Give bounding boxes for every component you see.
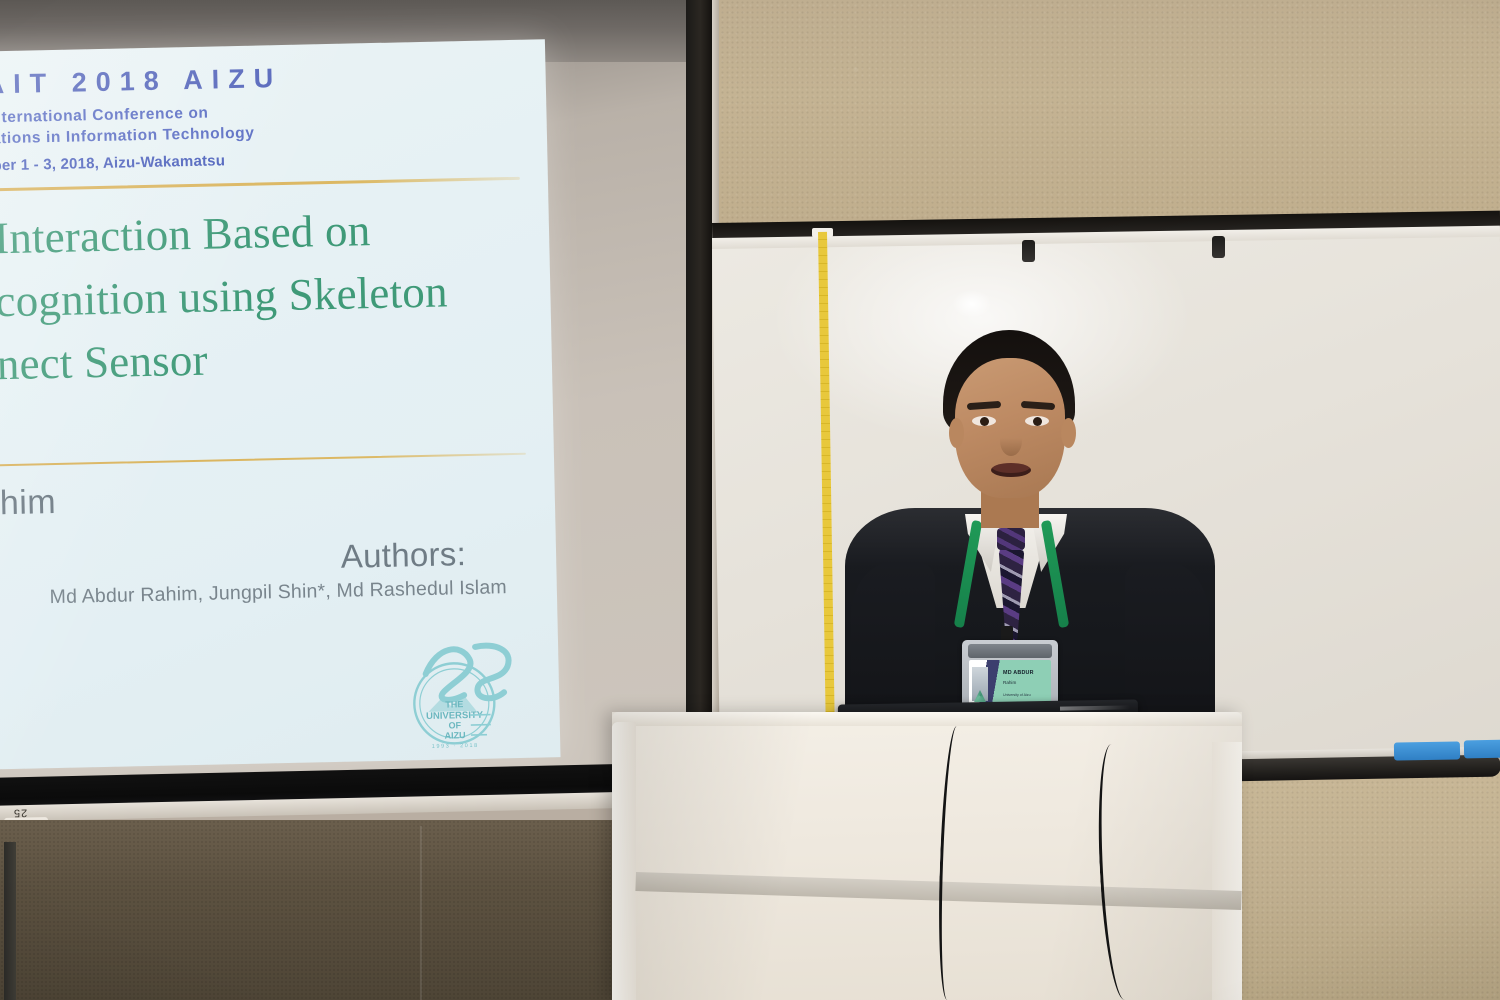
slide-paper-title-line-1: Interaction Based on bbox=[0, 195, 522, 269]
badge-holder-top bbox=[968, 644, 1052, 658]
speaker-mouth bbox=[991, 463, 1031, 477]
speaker-ear-left bbox=[949, 418, 964, 448]
corner-column bbox=[686, 0, 712, 760]
slide-authors-label: Authors: bbox=[1, 533, 529, 582]
svg-text:THE: THE bbox=[445, 699, 463, 709]
whiteboard-eraser[interactable] bbox=[1464, 740, 1500, 759]
curtain-seam bbox=[420, 826, 422, 1000]
whiteboard-eraser[interactable] bbox=[1394, 741, 1460, 760]
speaker-eye-right bbox=[1025, 416, 1049, 426]
svg-text:1993 · 2018: 1993 · 2018 bbox=[432, 743, 479, 750]
speaker-eye-left bbox=[972, 416, 996, 426]
presentation-photo: AIT 2018 AIZU nternational Conference on… bbox=[0, 0, 1500, 1000]
speaker-necktie-knot bbox=[997, 528, 1025, 550]
podium-shading bbox=[612, 712, 1242, 1000]
university-seal-icon: THE UNIVERSITY OF AIZU 1993 · 2018 bbox=[395, 628, 530, 759]
svg-text:OF: OF bbox=[448, 720, 461, 730]
slide-divider-top bbox=[0, 177, 520, 191]
badge-subname-text: Rahim bbox=[1003, 680, 1016, 685]
speaker-ear-right bbox=[1061, 418, 1076, 448]
projected-slide: AIT 2018 AIZU nternational Conference on… bbox=[0, 39, 561, 770]
screen-handle-label: 25 bbox=[13, 806, 28, 818]
whiteboard-clip[interactable] bbox=[1212, 236, 1225, 258]
whiteboard-glare bbox=[952, 290, 992, 318]
slide-presenter-name: him bbox=[0, 472, 527, 522]
badge-org-text: University of Aizu bbox=[1003, 693, 1031, 697]
slide-paper-title-line-2: cognition using Skeleton bbox=[0, 258, 523, 332]
speaker-nose bbox=[1000, 426, 1022, 456]
slide-divider-bottom bbox=[0, 452, 526, 465]
whiteboard-clip[interactable] bbox=[1022, 240, 1035, 262]
university-of-aizu-logo: THE UNIVERSITY OF AIZU 1993 · 2018 bbox=[395, 628, 530, 759]
slide-conference-date: ber 1 - 3, 2018, Aizu-Wakamatsu bbox=[0, 146, 520, 174]
speaker: MD ABDUR Rahim University of Aizu bbox=[845, 330, 1215, 750]
curtain-pole bbox=[4, 842, 16, 1000]
textured-upper-wall bbox=[695, 0, 1500, 232]
lower-curtain bbox=[0, 820, 700, 1000]
badge-name-text: MD ABDUR bbox=[1003, 670, 1034, 676]
slide-paper-title-line-3: nect Sensor bbox=[0, 321, 524, 395]
slide-conference-title: AIT 2018 AIZU bbox=[0, 58, 518, 101]
svg-text:AIZU: AIZU bbox=[444, 730, 465, 740]
